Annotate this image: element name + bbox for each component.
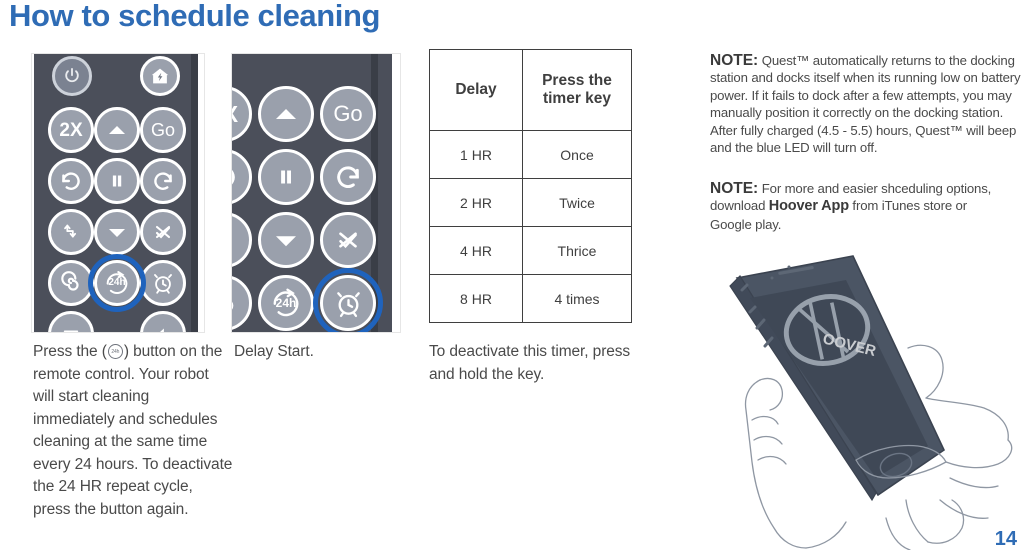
down-arrow-icon[interactable] [258,212,314,268]
note-1-keyword: NOTE: [710,52,758,69]
note-2-keyword: NOTE: [710,180,758,197]
button-label-go: Go [151,121,175,139]
down-arrow-icon[interactable] [94,209,140,255]
speed-2x-icon[interactable]: 2X [48,107,94,153]
spiral-icon[interactable] [231,275,252,331]
remote-side-edge [191,53,198,333]
cell-presses: Thrice [523,227,632,275]
pause-icon[interactable] [94,158,140,204]
note-battery-docking: NOTE: Quest™ automatically returns to th… [710,52,1027,156]
no-cross-icon[interactable] [320,212,376,268]
comb-edge-icon[interactable] [48,311,94,333]
up-arrow-icon[interactable] [94,107,140,153]
table-row: 2 HR Twice [430,179,632,227]
go-icon[interactable]: Go [140,107,186,153]
spiral-icon[interactable] [48,260,94,306]
cell-presses: Twice [523,179,632,227]
table-header-row: Delay Press the timer key [430,50,632,131]
zigzag-icon[interactable] [48,209,94,255]
volume-low-icon[interactable] [140,311,186,333]
cell-delay: 4 HR [430,227,523,275]
figure-remote-timer: 2X Go [231,53,401,333]
power-icon[interactable] [52,56,92,96]
cell-delay: 2 HR [430,179,523,227]
header-line-2: timer key [543,90,611,107]
rotate-right-icon[interactable] [140,158,186,204]
go-icon[interactable]: Go [320,86,376,142]
button-label-go: Go [333,103,362,125]
button-label-2x: 2X [231,103,238,126]
up-arrow-icon[interactable] [258,86,314,142]
note-hoover-app: NOTE: For more and easier shceduling opt… [710,180,1010,233]
alarm-clock-icon[interactable] [140,260,186,306]
page-title: How to schedule cleaning [9,0,380,34]
note-2-emphasis: Hoover App [769,198,849,214]
remote-body: 2X Go [231,53,392,333]
manual-page: How to schedule cleaning 2X [0,0,1027,555]
no-cross-icon[interactable] [140,209,186,255]
rotate-left-icon[interactable] [48,158,94,204]
delay-timer-table: Delay Press the timer key 1 HR Once 2 HR… [429,49,632,323]
rotate-left-icon[interactable] [231,149,252,205]
alarm-clock-icon[interactable] [320,275,376,331]
rotate-right-icon[interactable] [320,149,376,205]
inline-24h-icon [108,344,123,359]
remote-body: 2X Go [34,53,198,333]
pause-icon[interactable] [258,149,314,205]
24h-repeat-icon[interactable]: 24h [94,260,140,306]
table-row: 8 HR 4 times [430,275,632,323]
caption-remote-24h: Press the () button on the remote contro… [33,341,233,521]
button-label-2x: 2X [59,121,82,140]
zigzag-icon[interactable] [231,212,252,268]
cell-delay: 8 HR [430,275,523,323]
phone-illustration: OOVER [700,250,1027,550]
figure-remote-24h: 2X Go [31,53,205,333]
smartphone-graphic [730,256,944,500]
cell-presses: 4 times [523,275,632,323]
table-row: 1 HR Once [430,131,632,179]
header-line-1: Press the [542,72,612,89]
caption-1-after: ) button on the remote control. Your rob… [33,343,232,518]
cell-delay: 1 HR [430,131,523,179]
button-label-24h: 24h [276,297,297,309]
column-header-press-timer-key: Press the timer key [523,50,632,131]
cell-presses: Once [523,131,632,179]
caption-1-before: Press the ( [33,343,107,360]
page-number: 14 [995,528,1017,551]
dock-home-icon[interactable] [140,56,180,96]
caption-deactivate-timer: To deactivate this timer, press and hold… [429,341,639,386]
column-header-delay: Delay [430,50,523,131]
caption-delay-start: Delay Start. [234,341,414,364]
table-row: 4 HR Thrice [430,227,632,275]
speed-2x-icon[interactable]: 2X [231,86,252,142]
button-label-24h: 24h [108,278,125,288]
24h-repeat-icon[interactable]: 24h [258,275,314,331]
